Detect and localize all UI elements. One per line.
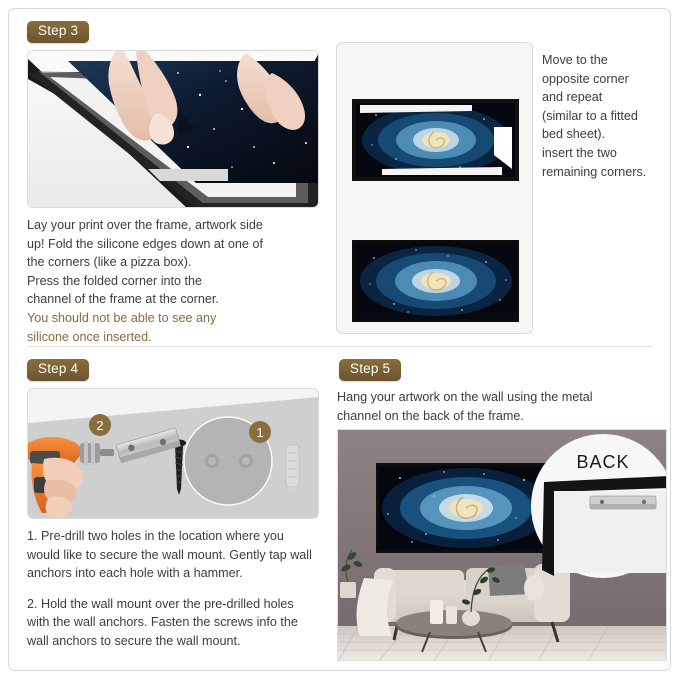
- step-3-side-line-6: insert the two: [542, 144, 664, 163]
- step-3-line-3: the corners (like a pizza box).: [27, 253, 327, 272]
- thumbnail-frame-completed: [352, 240, 519, 322]
- step-3-badge-wrap: Step 3: [27, 21, 89, 43]
- step-3-side-text: Move to the opposite corner and repeat (…: [542, 51, 664, 181]
- step-5-body-text: Hang your artwork on the wall using the …: [337, 388, 667, 425]
- step-5-line-2: channel on the back of the frame.: [337, 407, 667, 426]
- step-3-side-line-2: opposite corner: [542, 70, 664, 89]
- step-3-side-line-1: Move to the: [542, 51, 664, 70]
- callout-number-2: 2: [96, 418, 103, 433]
- section-divider: [27, 346, 652, 347]
- step-4-badge-wrap: Step 4: [27, 359, 89, 381]
- step-3-side-line-5: bed sheet).: [542, 125, 664, 144]
- step-3-side-line-7: remaining corners.: [542, 163, 664, 182]
- step-3-line-2: up! Fold the silicone edges down at one …: [27, 235, 327, 254]
- photo-drill-and-wall-mount: 1: [27, 388, 319, 519]
- back-callout-label: BACK: [576, 452, 629, 472]
- step-3-line-4: Press the folded corner into the: [27, 272, 327, 291]
- step-3-body-text: Lay your print over the frame, artwork s…: [27, 216, 327, 346]
- section-step-3: Step 3: [9, 9, 670, 346]
- step-5-badge-wrap: Step 5: [339, 359, 401, 381]
- step-3-warning-line-2: silicone once inserted.: [27, 328, 327, 347]
- step-3-badge: Step 3: [27, 21, 89, 43]
- callout-number-1: 1: [256, 425, 263, 440]
- photo-hands-folding-print: [27, 50, 319, 208]
- step-4-paragraph-2: 2. Hold the wall mount over the pre-dril…: [27, 595, 319, 651]
- step-4-badge: Step 4: [27, 359, 89, 381]
- step-3-line-5: channel of the frame at the corner.: [27, 290, 327, 309]
- step-5-badge: Step 5: [339, 359, 401, 381]
- step-5-line-1: Hang your artwork on the wall using the …: [337, 388, 667, 407]
- section-step-4: Step 4: [9, 351, 329, 671]
- photo-living-room-hung-artwork: BACK: [337, 429, 667, 661]
- step-4-paragraph-1: 1. Pre-drill two holes in the location w…: [27, 527, 319, 583]
- step-4-body-text: 1. Pre-drill two holes in the location w…: [27, 527, 319, 651]
- step-3-side-line-3: and repeat: [542, 88, 664, 107]
- step-3-side-line-4: (similar to a fitted: [542, 107, 664, 126]
- step-3-line-1: Lay your print over the frame, artwork s…: [27, 216, 327, 235]
- instruction-sheet: Step 3: [8, 8, 671, 671]
- section-step-5: Step 5 Hang your artwork on the wall usi…: [331, 351, 670, 671]
- step-3-thumbnail-panel: [336, 42, 533, 334]
- thumbnail-frame-silicone-visible: [352, 99, 519, 181]
- step-3-warning-line-1: You should not be able to see any: [27, 309, 327, 328]
